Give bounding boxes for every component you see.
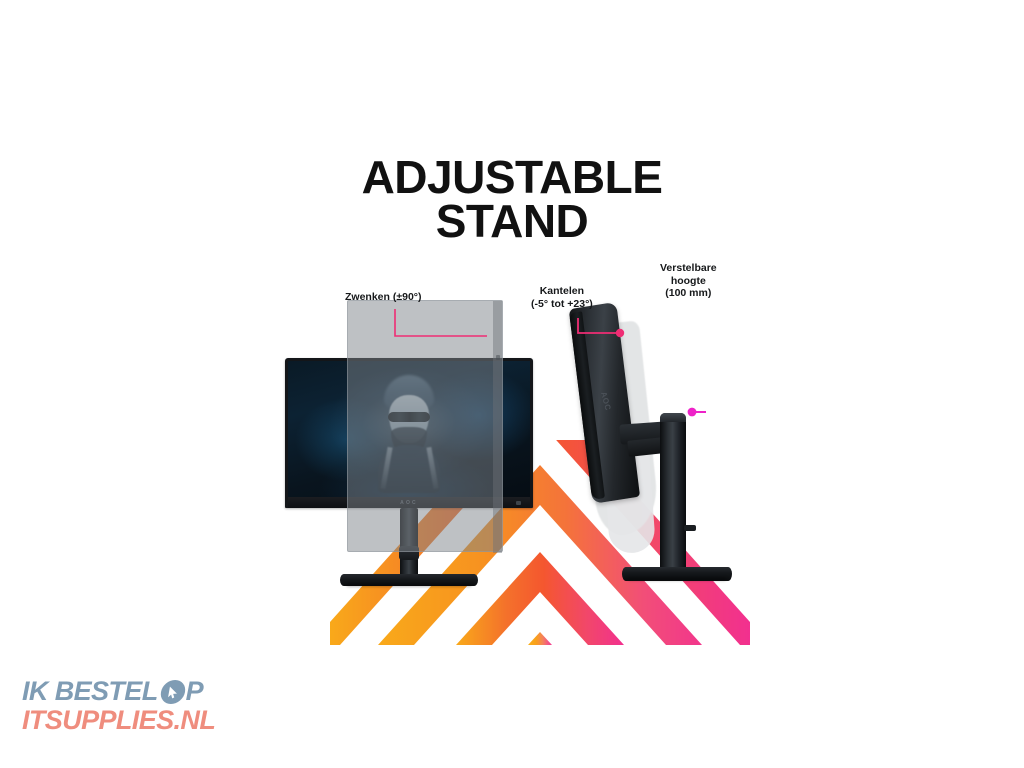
logo-line-1-prefix: IK BESTEL (22, 678, 158, 705)
cursor-arrow-icon (159, 680, 187, 704)
product-scene: AOC AOC (0, 0, 1024, 768)
monitor-side-stand-base (622, 567, 732, 581)
monitor-side-screen-edge (569, 311, 605, 500)
callout-tilt: Kantelen (-5° tot +23°) (531, 285, 593, 310)
monitor-side-stand-column-cap (660, 413, 686, 422)
callout-height-line-1: Verstelbare (660, 262, 717, 275)
product-banner: ADJUSTABLE STAND A (0, 0, 1024, 768)
callout-height-line-2: hoogte (660, 275, 717, 288)
monitor-pivot-ghost-chin (493, 301, 502, 553)
logo-line-2: ITSUPPLIES.NL (22, 707, 215, 734)
callout-tilt-line-2: (-5° tot +23°) (531, 298, 593, 311)
itsupplies-logo[interactable]: IK BESTEL P ITSUPPLIES.NL (22, 678, 215, 734)
callout-height: Verstelbare hoogte (100 mm) (660, 262, 717, 300)
logo-line-1-suffix: P (186, 678, 203, 705)
callout-swivel-line-1: Zwenken (±90°) (345, 291, 421, 304)
monitor-pivot-ghost-led (496, 355, 500, 360)
monitor-pivot-ghost (347, 300, 503, 552)
callout-swivel: Zwenken (±90°) (345, 291, 421, 304)
callout-height-line-3: (100 mm) (660, 287, 717, 300)
monitor-side-view: AOC (578, 305, 738, 590)
callout-tilt-line-1: Kantelen (531, 285, 593, 298)
monitor-side-brand-mark: AOC (599, 391, 613, 412)
monitor-front-stand-base (340, 574, 478, 586)
monitor-side-stand-column (660, 413, 686, 573)
logo-line-1: IK BESTEL P (22, 678, 215, 705)
cable-management-clip (684, 525, 696, 531)
power-led-icon (516, 501, 521, 505)
